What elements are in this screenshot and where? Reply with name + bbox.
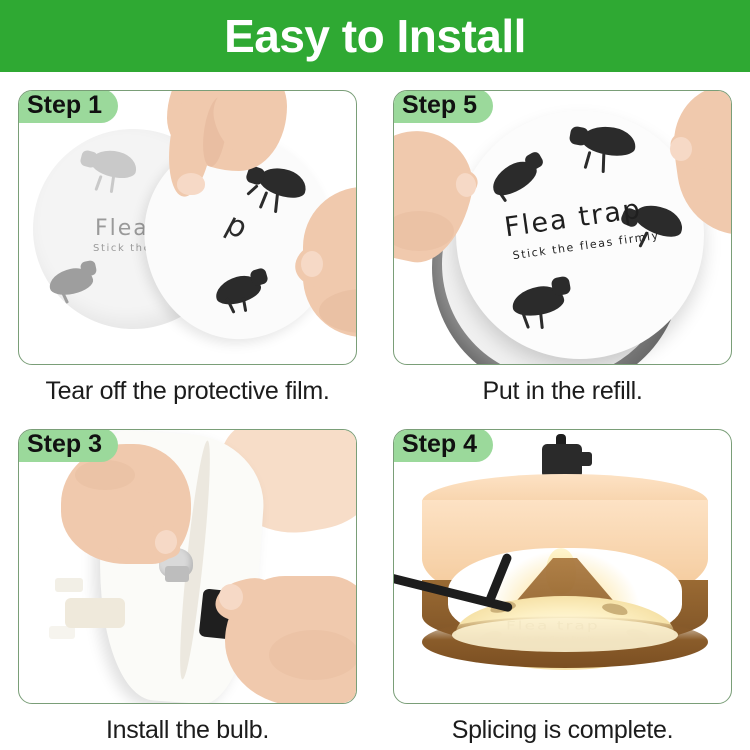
- step-card-3[interactable]: Step 3: [18, 429, 357, 704]
- step-badge-1: Step 1: [18, 90, 118, 123]
- fingernail: [670, 137, 692, 161]
- fingernail: [177, 173, 205, 195]
- step-5-illustration: Flea trap Stick the fleas firmly: [394, 91, 731, 364]
- step-card-4[interactable]: Flea trap Stick the fleas firmly Step 4: [393, 429, 732, 704]
- step-badge-3: Step 3: [18, 429, 118, 462]
- step-badge-4: Step 4: [393, 429, 493, 462]
- fingernail: [301, 251, 323, 277]
- step-card-2[interactable]: Flea trap Stick the fleas firmly Step 5: [393, 90, 732, 365]
- step-cell-4: Flea trap Stick the fleas firmly Step 4 …: [375, 411, 750, 750]
- step-caption-2: Put in the refill.: [393, 377, 732, 406]
- housing-prong: [55, 578, 83, 592]
- step-caption-1: Tear off the protective film.: [18, 377, 357, 406]
- lamp-base-inner-shadow: [452, 618, 678, 652]
- cord-connector: [542, 444, 582, 478]
- step-card-1[interactable]: Flea Stick the fleas firmly p: [18, 90, 357, 365]
- housing-prong: [65, 598, 125, 628]
- page-title: Easy to Install: [224, 13, 526, 59]
- step-caption-4: Splicing is complete.: [393, 716, 732, 745]
- cord-connector-nub: [578, 452, 592, 466]
- hand-lower-shadow: [269, 630, 356, 680]
- header-banner: Easy to Install: [0, 0, 750, 72]
- step-cell-3: Step 3 Install the bulb.: [0, 411, 375, 750]
- step-caption-3: Install the bulb.: [18, 716, 357, 745]
- fingernail: [219, 584, 243, 610]
- bulb-base: [165, 566, 189, 582]
- product-brand-text: Flea: [95, 216, 149, 241]
- step-3-illustration: [19, 430, 356, 703]
- step-cell-2: Flea trap Stick the fleas firmly Step 5 …: [375, 72, 750, 411]
- step-1-illustration: Flea Stick the fleas firmly p: [19, 91, 356, 364]
- step-badge-2: Step 5: [393, 90, 493, 123]
- step-cell-1: Flea Stick the fleas firmly p: [0, 72, 375, 411]
- step-4-illustration: Flea trap Stick the fleas firmly: [394, 430, 731, 703]
- steps-grid: Flea Stick the fleas firmly p: [0, 72, 750, 750]
- hand-upper-shadow: [75, 460, 135, 490]
